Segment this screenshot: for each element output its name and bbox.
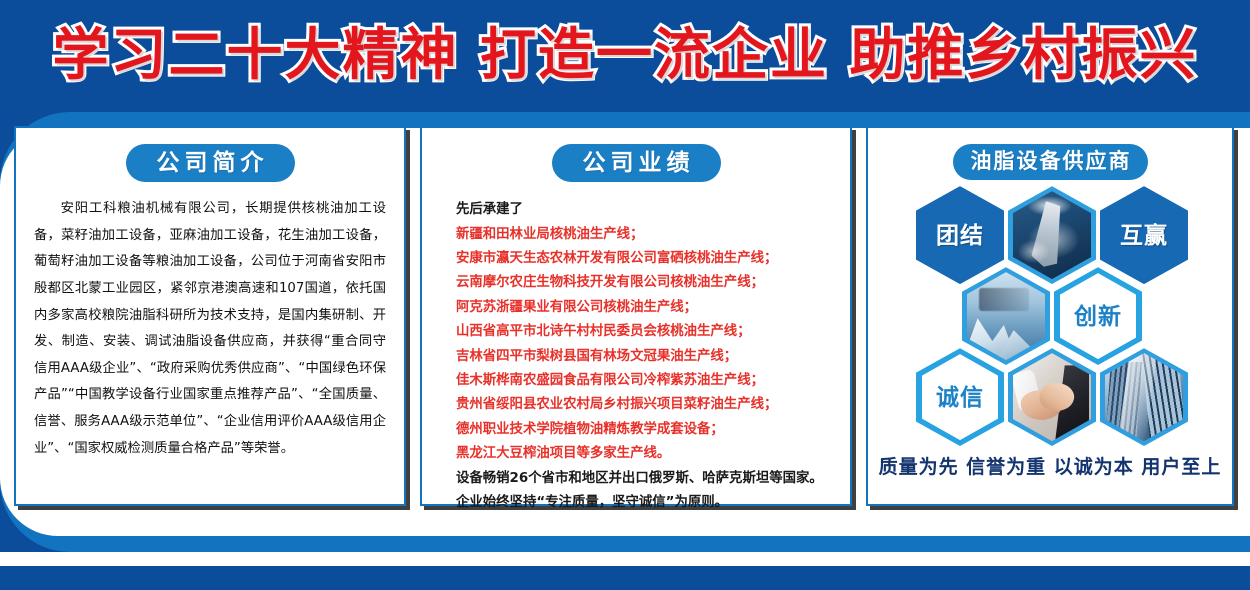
project-item: 黑龙江大豆榨油项目等多家生产线。 <box>456 442 850 466</box>
success-mountain-photo <box>967 272 1045 360</box>
hex-mutual-win-label: 互赢 <box>1120 224 1168 247</box>
bottom-white-band <box>0 552 1250 566</box>
performance-intro: 先后承建了 <box>456 198 850 222</box>
panel-1-badge: 公司简介 <box>126 144 295 182</box>
poster-header: 学习二十大精神 打造一流企业 助推乡村振兴 <box>0 0 1250 112</box>
poster-board: 学习二十大精神 打造一流企业 助推乡村振兴 公司简介 安阳工科粮油机械有限公司，… <box>0 0 1250 590</box>
performance-list: 先后承建了 新疆和田林业局核桃油生产线； 安康市瀛天生态农林开发有限公司富硒核桃… <box>456 198 850 515</box>
panel-supplier-values: 油脂设备供应商 团结 <box>866 126 1234 506</box>
bottom-navy-band <box>0 566 1250 590</box>
handshake-photo <box>1013 353 1091 441</box>
values-slogan: 质量为先 信誉为重 以诚为本 用户至上 <box>868 452 1232 479</box>
hex-integrity: 诚信 <box>916 348 1004 446</box>
hex-innovation-label: 创新 <box>1074 305 1122 328</box>
aircraft-carrier-photo <box>1013 191 1091 279</box>
stage-wrapper: 公司简介 安阳工科粮油机械有限公司，长期提供核桃油加工设备，菜籽油加工设备，亚麻… <box>0 112 1250 552</box>
hex-integrity-label: 诚信 <box>936 386 984 409</box>
panel-company-performance: 公司业绩 先后承建了 新疆和田林业局核桃油生产线； 安康市瀛天生态农林开发有限公… <box>420 126 852 506</box>
panel-company-intro: 公司简介 安阳工科粮油机械有限公司，长期提供核桃油加工设备，菜籽油加工设备，亚麻… <box>14 126 406 506</box>
project-item: 佳木斯桦南农盛园食品有限公司冷榨紫苏油生产线； <box>456 369 850 393</box>
project-item: 阿克苏浙疆果业有限公司核桃油生产线； <box>456 296 850 320</box>
skyscraper-photo <box>1105 353 1183 441</box>
project-item: 贵州省绥阳县农业农村局乡村振兴项目菜籽油生产线； <box>456 393 850 417</box>
project-item: 安康市瀛天生态农林开发有限公司富硒核桃油生产线； <box>456 247 850 271</box>
hexagon-cluster: 团结 互赢 <box>868 186 1236 448</box>
hex-unity-label: 团结 <box>936 224 984 247</box>
project-item: 云南摩尔农庄生物科技开发有限公司核桃油生产线； <box>456 271 850 295</box>
panel-2-badge: 公司业绩 <box>552 144 721 182</box>
company-intro-text: 安阳工科粮油机械有限公司，长期提供核桃油加工设备，菜籽油加工设备，亚麻油加工设备… <box>34 196 386 462</box>
project-item: 吉林省四平市梨树县国有林场文冠果油生产线； <box>456 345 850 369</box>
hex-handshake-icon <box>1008 348 1096 446</box>
panels-row: 公司简介 安阳工科粮油机械有限公司，长期提供核桃油加工设备，菜籽油加工设备，亚麻… <box>14 126 1250 506</box>
project-item: 新疆和田林业局核桃油生产线； <box>456 223 850 247</box>
performance-footer-1: 设备畅销26个省市和地区并出口俄罗斯、哈萨克斯坦等国家。 <box>456 467 850 491</box>
panel-3-badge: 油脂设备供应商 <box>953 144 1148 180</box>
project-item: 德州职业技术学院植物油精炼教学成套设备； <box>456 418 850 442</box>
hex-row-bottom: 诚信 <box>868 348 1236 446</box>
header-title: 学习二十大精神 打造一流企业 助推乡村振兴 <box>53 28 1198 84</box>
performance-footer-2: 企业始终坚持“专注质量，坚守诚信”为原则。 <box>456 491 850 515</box>
hex-skyscraper-icon <box>1100 348 1188 446</box>
project-item: 山西省高平市北诗午村村民委员会核桃油生产线； <box>456 320 850 344</box>
sea-wake-secondary <box>1018 240 1049 263</box>
calligraphy-overlay <box>979 288 1029 311</box>
